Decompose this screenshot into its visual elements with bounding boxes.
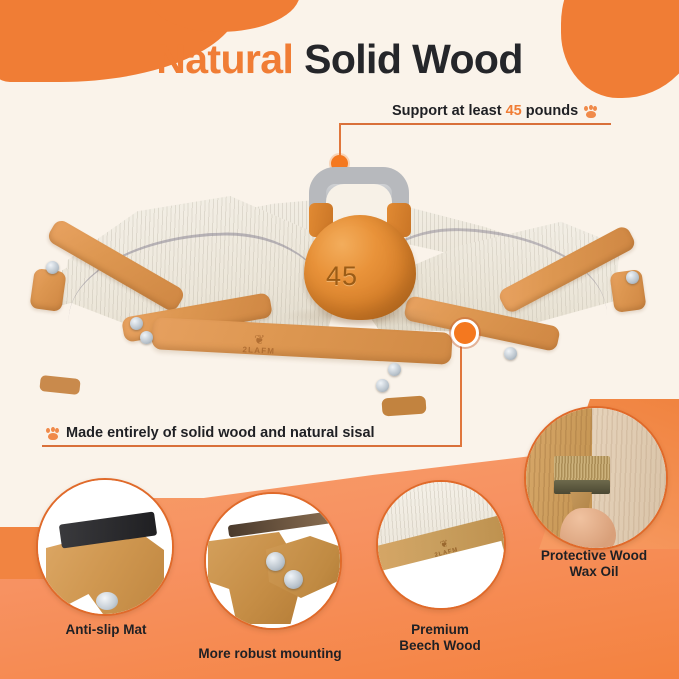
callout-materials-label: Made entirely of solid wood and natural … [66,425,375,441]
callout-support-weight: Support at least 45 pounds [392,103,598,119]
paw-print-icon [45,427,60,440]
leader-line-horizontal [42,445,462,447]
callout-prefix: Support at least [392,103,506,119]
mounting-screw [284,570,303,589]
detail-photo-mounting [204,492,342,630]
annotation-dot-frame [451,319,479,347]
title-word-natural: Natural [156,36,293,82]
feature-label-wax-oil: Protective Wood Wax Oil [514,548,674,580]
frame-screw [96,592,118,610]
product-infographic: Natural Solid Wood Support at least 45 p… [0,0,679,679]
feature-label-beech-wood: Premium Beech Wood [378,622,502,654]
title-word-solid-wood: Solid Wood [304,36,523,82]
frame-screw [504,347,517,360]
kettlebell-weight-label: 45 [326,261,358,292]
mounting-screw [266,552,285,571]
callout-materials: Made entirely of solid wood and natural … [45,425,375,441]
wood-foot-left [29,268,66,312]
kettlebell: 45 [295,165,425,320]
page-title: Natural Solid Wood [0,36,679,83]
callout-leader-top [339,123,611,165]
feature-label-robust-mounting: More robust mounting [175,646,365,662]
callout-weight-number: 45 [506,103,522,119]
detail-photo-beech-wood: ❦ 2LAFM [376,480,506,610]
paw-print-icon [583,105,598,118]
callout-support-weight-label: Support at least 45 pounds [392,103,578,119]
feature-label-anti-slip-mat: Anti-slip Mat [36,622,176,638]
frame-screw [46,261,59,274]
detail-photo-anti-slip-mat [36,478,174,616]
leader-line-horizontal [339,123,611,125]
callout-suffix: pounds [522,103,578,119]
paint-brush-ferrule-icon [554,480,610,494]
paint-brush-bristles-icon [554,456,610,482]
frame-screw [626,271,639,284]
detail-photo-wax-oil [524,406,668,550]
